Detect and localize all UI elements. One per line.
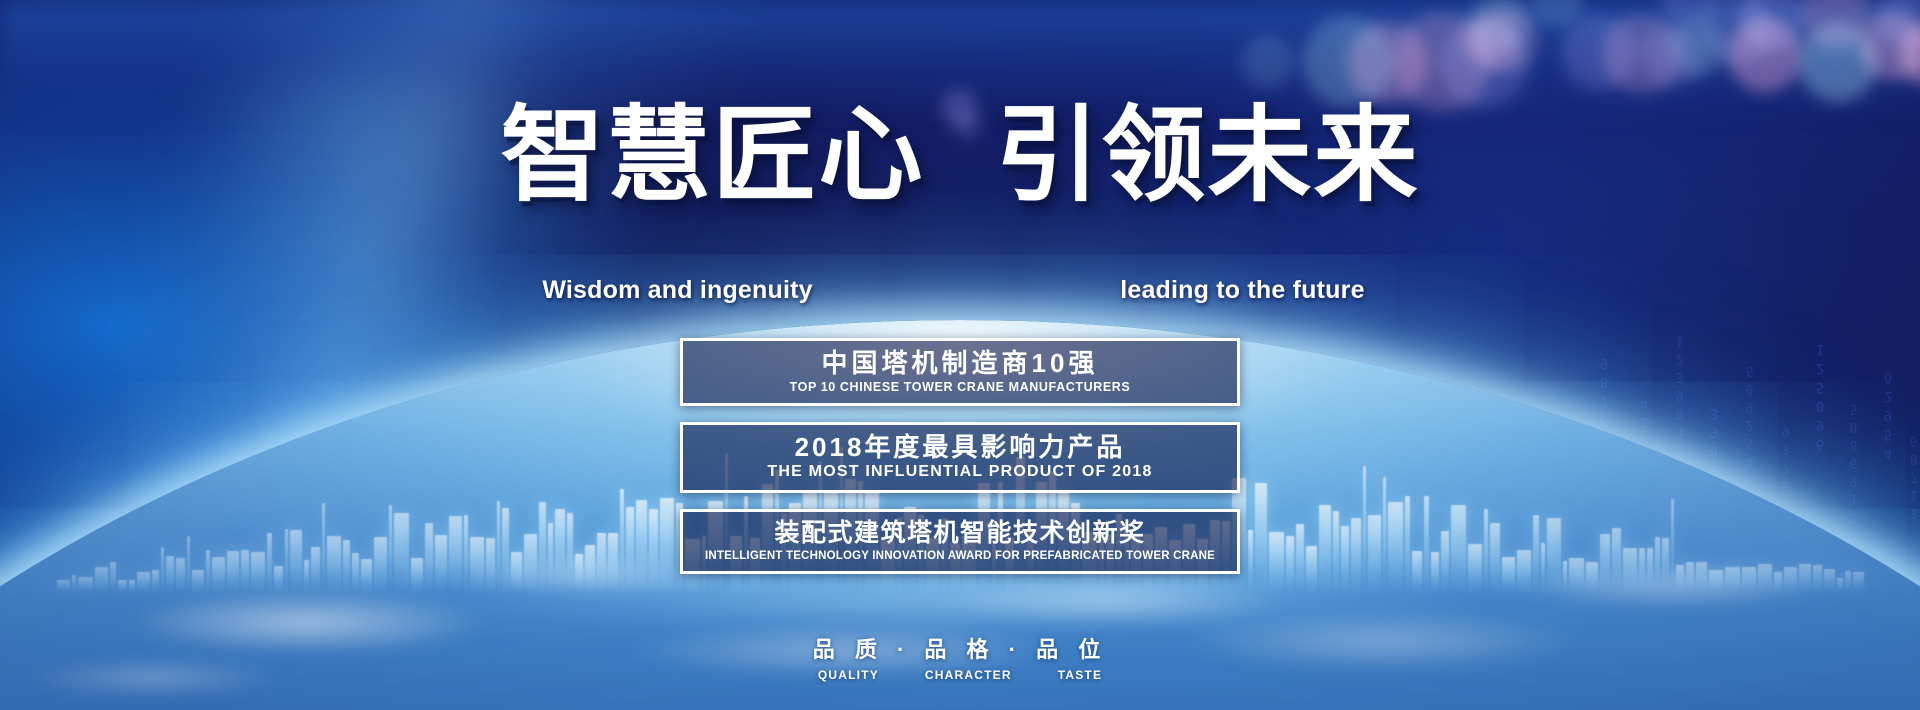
award-badge: 2018年度最具影响力产品 THE MOST INFLUENTIAL PRODU… [680,422,1240,494]
tagline-en-character: CHARACTER [925,668,1012,682]
headline-cn-left: 智慧匠心 [501,104,925,208]
tagline-en: QUALITY CHARACTER TASTE [0,668,1920,682]
award-badge: 中国塔机制造商10强 TOP 10 CHINESE TOWER CRANE MA… [680,338,1240,406]
headline: 智慧匠心 引领未来 [0,104,1920,208]
subheadline: Wisdom and ingenuity leading to the futu… [0,276,1920,305]
award-list: 中国塔机制造商10强 TOP 10 CHINESE TOWER CRANE MA… [680,338,1240,574]
subheadline-en-right: leading to the future [1027,276,1457,305]
award-title-en: INTELLIGENT TECHNOLOGY INNOVATION AWARD … [693,550,1227,562]
award-title-en: TOP 10 CHINESE TOWER CRANE MANUFACTURERS [693,380,1227,394]
tagline-cn: 品 质 · 品 格 · 品 位 [0,632,1920,664]
award-badge: 装配式建筑塔机智能技术创新奖 INTELLIGENT TECHNOLOGY IN… [680,509,1240,574]
promo-banner: 0123456789690527141452389321896501154238… [0,0,1920,710]
headline-cn-right: 引领未来 [995,104,1419,208]
award-title-cn: 中国塔机制造商10强 [693,348,1227,379]
subheadline-en-left: Wisdom and ingenuity [463,276,893,305]
tagline-en-taste: TASTE [1058,668,1102,682]
banner-content: 智慧匠心 引领未来 Wisdom and ingenuity leading t… [0,0,1920,710]
award-title-cn: 2018年度最具影响力产品 [693,432,1227,463]
bottom-tagline: 品 质 · 品 格 · 品 位 QUALITY CHARACTER TASTE [0,632,1920,682]
award-title-cn: 装配式建筑塔机智能技术创新奖 [693,519,1227,549]
award-title-en: THE MOST INFLUENTIAL PRODUCT OF 2018 [693,463,1227,481]
tagline-en-quality: QUALITY [818,668,879,682]
